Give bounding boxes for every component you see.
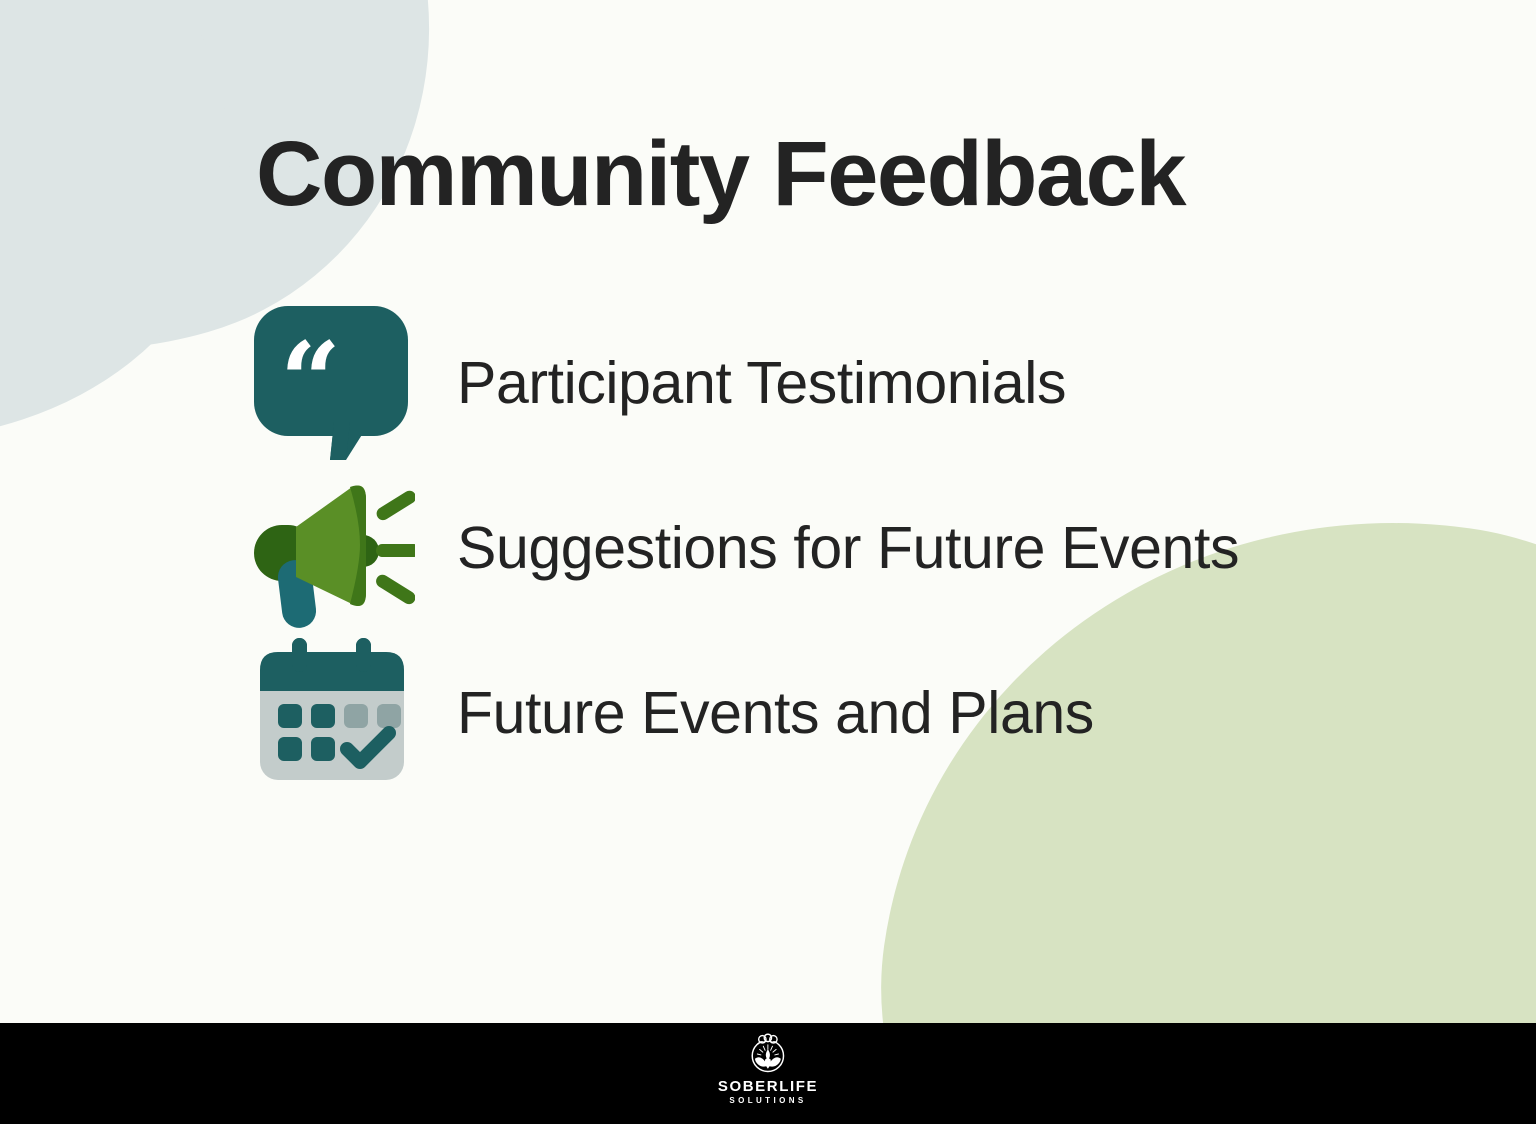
list-item-label: Suggestions for Future Events bbox=[457, 514, 1239, 582]
bullet-icon-slot bbox=[250, 465, 415, 630]
brand-subtitle: SOLUTIONS bbox=[729, 1097, 806, 1106]
calendar-check-icon bbox=[252, 638, 412, 786]
bullet-icon-slot bbox=[250, 630, 415, 795]
calendar-ring-right-overlay bbox=[356, 638, 371, 672]
calendar-day-1 bbox=[278, 704, 302, 728]
list-item-label: Participant Testimonials bbox=[457, 349, 1066, 417]
brand-logo: SOBERLIFE SOLUTIONS bbox=[718, 1031, 818, 1105]
slide-canvas: Community Feedback “ Participant Testimo… bbox=[0, 0, 1536, 1124]
megaphone-icon bbox=[250, 465, 415, 630]
calendar-day-3 bbox=[344, 704, 368, 728]
footer-bar: SOBERLIFE SOLUTIONS bbox=[0, 1023, 1536, 1124]
calendar-header bbox=[260, 652, 404, 691]
calendar-day-2 bbox=[311, 704, 335, 728]
calendar-day-4 bbox=[377, 704, 401, 728]
list-item: Suggestions for Future Events bbox=[250, 465, 1450, 630]
quote-glyph-left: “ bbox=[280, 328, 341, 434]
brand-name: SOBERLIFE bbox=[718, 1079, 818, 1096]
megaphone-sound-line-top bbox=[374, 488, 415, 522]
megaphone-sound-line-mid bbox=[376, 544, 415, 557]
megaphone-sound-line-bottom bbox=[374, 572, 415, 606]
slide-content: Community Feedback “ Participant Testimo… bbox=[0, 0, 1536, 1023]
calendar-day-5 bbox=[278, 737, 302, 761]
list-item: “ Participant Testimonials bbox=[250, 300, 1450, 465]
bullet-icon-slot: “ bbox=[250, 300, 415, 465]
list-item: Future Events and Plans bbox=[250, 630, 1450, 795]
calendar-day-6 bbox=[311, 737, 335, 761]
calendar-ring-left-overlay bbox=[292, 638, 307, 672]
page-title: Community Feedback bbox=[256, 126, 1185, 223]
quote-speech-bubble-icon: “ bbox=[254, 306, 408, 460]
bullet-list: “ Participant Testimonials bbox=[250, 300, 1450, 795]
list-item-label: Future Events and Plans bbox=[457, 679, 1094, 747]
soberlife-emblem-icon bbox=[745, 1031, 791, 1077]
